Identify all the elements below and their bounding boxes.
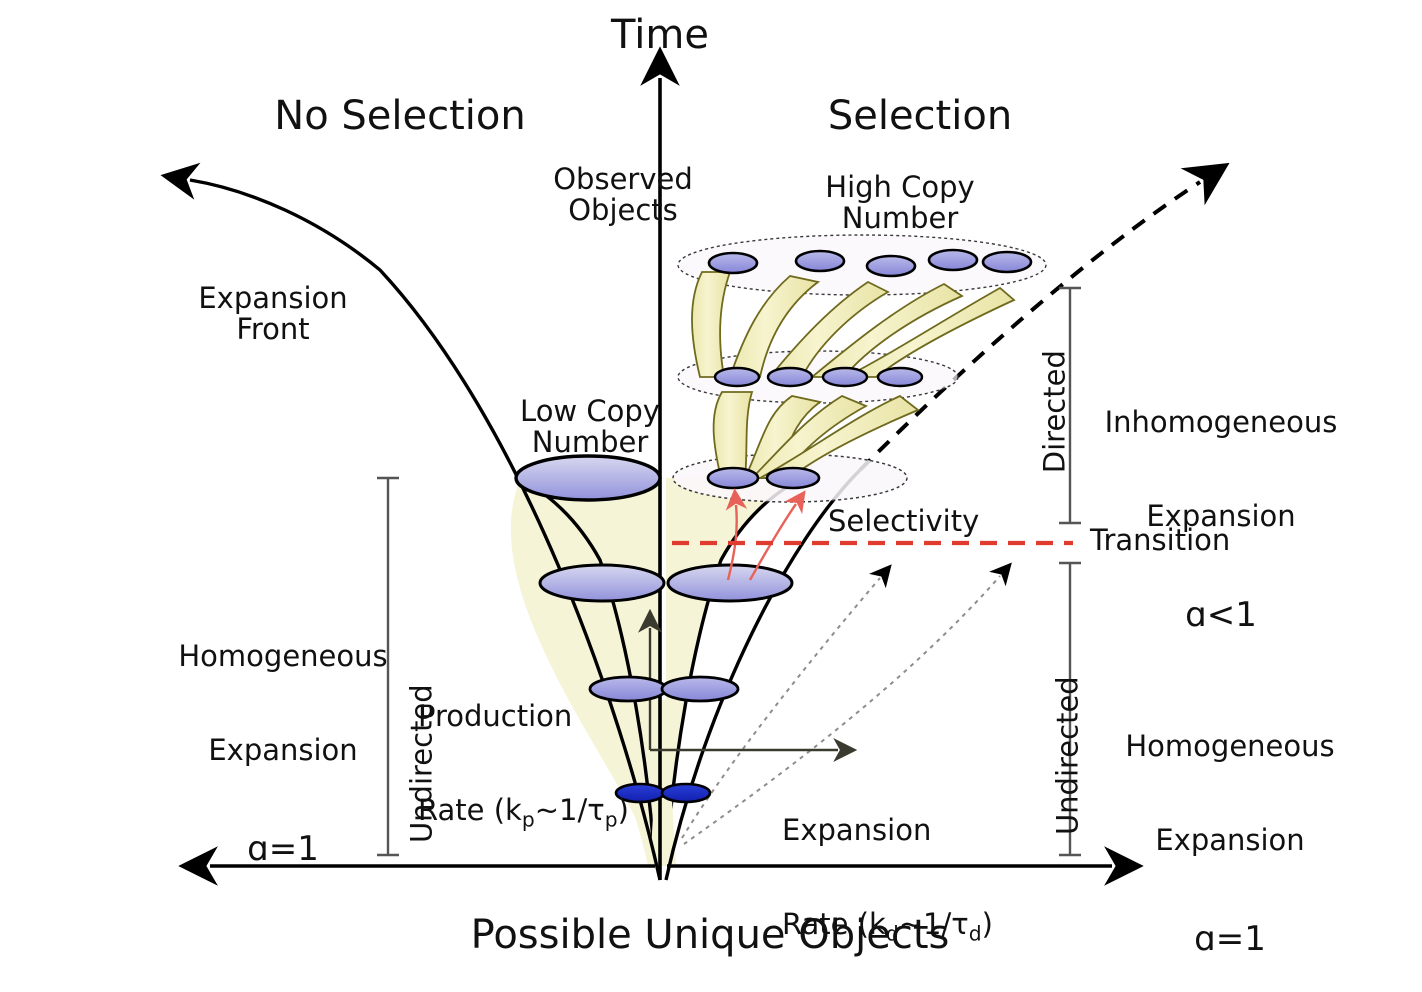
mouth-t2-d: [878, 368, 922, 386]
label-right-directed-regime: Inhomogeneous Expansion ɑ<1: [1086, 344, 1356, 665]
production-rate-line2: Rate (kp~1/τp): [418, 795, 718, 831]
figure-canvas: Time Possible Unique Objects No Selectio…: [0, 0, 1422, 992]
mouth-t2-b: [768, 368, 812, 386]
mouth-t3-d: [929, 250, 977, 270]
heading-no-selection: No Selection: [190, 95, 610, 138]
right-directed-exponent: ɑ<1: [1086, 597, 1356, 634]
mouth-t2-a: [715, 368, 759, 386]
right-undirected-exponent: ɑ=1: [1100, 921, 1360, 958]
label-high-copy-number: High Copy Number: [780, 172, 1020, 235]
right-directed-line2: Expansion: [1086, 501, 1356, 532]
right-undirected-line2: Expansion: [1100, 825, 1360, 856]
left-regime-line1: Homogeneous: [168, 641, 398, 672]
left-regime-exponent: ɑ=1: [168, 831, 398, 868]
left-regime-line2: Expansion: [168, 735, 398, 766]
y-axis-label: Time: [560, 14, 760, 57]
mouth-t1-b: [767, 468, 819, 488]
label-observed-objects: Observed Objects: [498, 164, 748, 227]
prod-mid: ~1/τ: [535, 793, 605, 827]
prod-sub2: p: [605, 807, 618, 831]
label-low-copy-number: Low Copy Number: [470, 396, 710, 459]
label-left-bracket-axis: Undirected: [406, 664, 437, 864]
mouth-t1-a: [708, 468, 758, 488]
label-right-undirected-axis: Undirected: [1052, 656, 1083, 856]
disc-level2-left: [540, 565, 664, 601]
exp-post: ): [982, 907, 993, 941]
expansion-rate-line2: Rate (kd~1/τd): [782, 909, 1102, 945]
right-directed-line1: Inhomogeneous: [1086, 407, 1356, 438]
mouth-t3-a: [709, 253, 757, 273]
disc-low-copy-mouth: [516, 456, 660, 500]
mouth-t3-c: [867, 256, 915, 276]
exp-sub1: d: [886, 921, 899, 945]
exp-sub2: d: [969, 921, 982, 945]
label-production-rate: Production Rate (kp~1/τp): [418, 638, 718, 862]
label-right-undirected-regime: Homogeneous Expansion ɑ=1: [1100, 668, 1360, 989]
prod-post: ): [618, 793, 629, 827]
label-right-directed-axis: Directed: [1039, 317, 1070, 507]
prod-sub1: p: [522, 807, 535, 831]
label-selectivity: Selectivity: [828, 506, 1058, 537]
heading-selection: Selection: [730, 95, 1110, 138]
label-left-regime: Homogeneous Expansion ɑ=1: [168, 578, 398, 899]
production-rate-line1: Production: [418, 701, 718, 732]
right-undirected-line1: Homogeneous: [1100, 731, 1360, 762]
mouth-t3-b: [796, 251, 844, 271]
label-expansion-front: Expansion Front: [148, 283, 398, 346]
exp-mid: ~1/τ: [899, 907, 969, 941]
exp-pre: Rate (k: [782, 907, 886, 941]
mouth-t2-c: [823, 368, 867, 386]
mouth-t3-e: [983, 252, 1031, 272]
